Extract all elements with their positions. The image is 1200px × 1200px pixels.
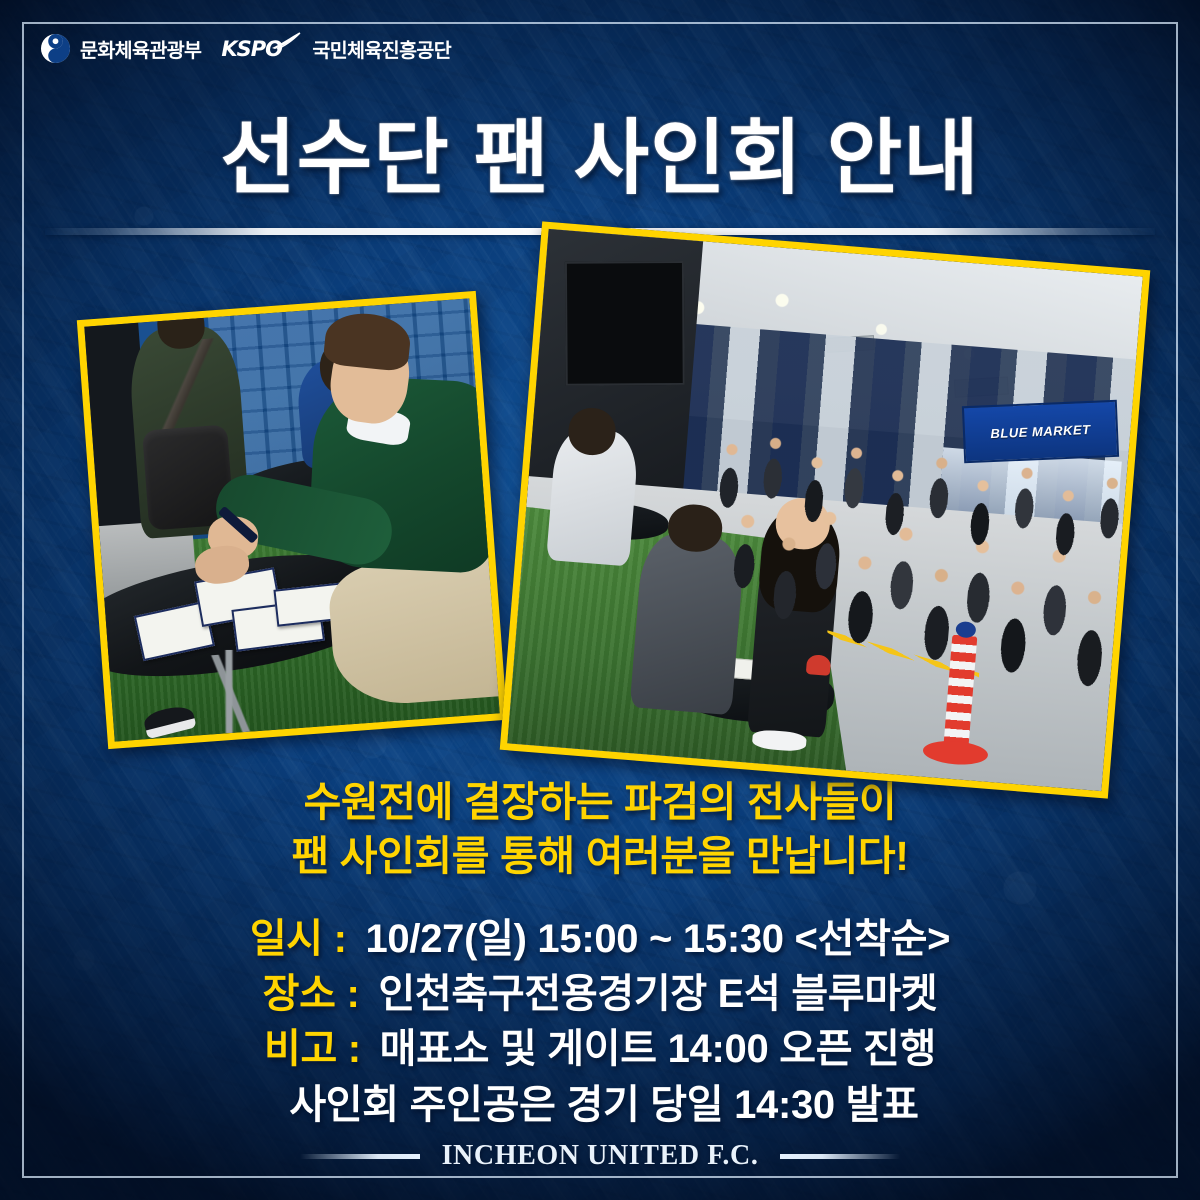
photo-left-scene [84, 298, 499, 741]
detail-label-location: 장소 : [263, 972, 360, 1016]
event-details-block: 일시 : 10/27(일) 15:00 ~ 15:30 <선착순> 장소 : 인… [0, 912, 1200, 1133]
subtitle-line-2: 팬 사인회를 통해 여러분을 만납니다! [0, 829, 1200, 883]
photo-right-scene: BLUE MARKET [507, 229, 1142, 791]
photo-right: BLUE MARKET [500, 221, 1151, 798]
detail-label-notes: 비고 : [264, 1027, 361, 1071]
footer-rule-right [780, 1154, 900, 1159]
detail-row-notes-cont: 사인회 주인공은 경기 당일 14:30 발표 [0, 1078, 1200, 1133]
detail-value-notes-cont: 사인회 주인공은 경기 당일 14:30 발표 [289, 1083, 918, 1127]
detail-row-datetime: 일시 : 10/27(일) 15:00 ~ 15:30 <선착순> [0, 912, 1200, 967]
photo-left-player-trousers [326, 555, 507, 709]
detail-row-location: 장소 : 인천축구전용경기장 E석 블루마켓 [0, 967, 1200, 1022]
blue-market-sign-text: BLUE MARKET [990, 422, 1091, 441]
footer-brand: INCHEON UNITED F.C. [0, 1140, 1200, 1172]
photo-left [77, 291, 507, 749]
footer-brand-text: INCHEON UNITED F.C. [442, 1140, 759, 1172]
detail-label-datetime: 일시 : [250, 917, 347, 961]
poster-root: 문화체육관광부 KSPO 국민체육진흥공단 선수단 팬 사인회 안내 [0, 0, 1200, 1200]
detail-value-location: 인천축구전용경기장 E석 블루마켓 [378, 972, 937, 1016]
footer-rule-left [300, 1154, 420, 1159]
detail-value-notes: 매표소 및 게이트 14:00 오픈 진행 [380, 1027, 936, 1071]
detail-row-notes: 비고 : 매표소 및 게이트 14:00 오픈 진행 [0, 1022, 1200, 1077]
photo-right-wall-tv [565, 261, 685, 386]
detail-value-datetime: 10/27(일) 15:00 ~ 15:30 <선착순> [365, 917, 950, 961]
photo-right-crowd [686, 428, 1139, 781]
